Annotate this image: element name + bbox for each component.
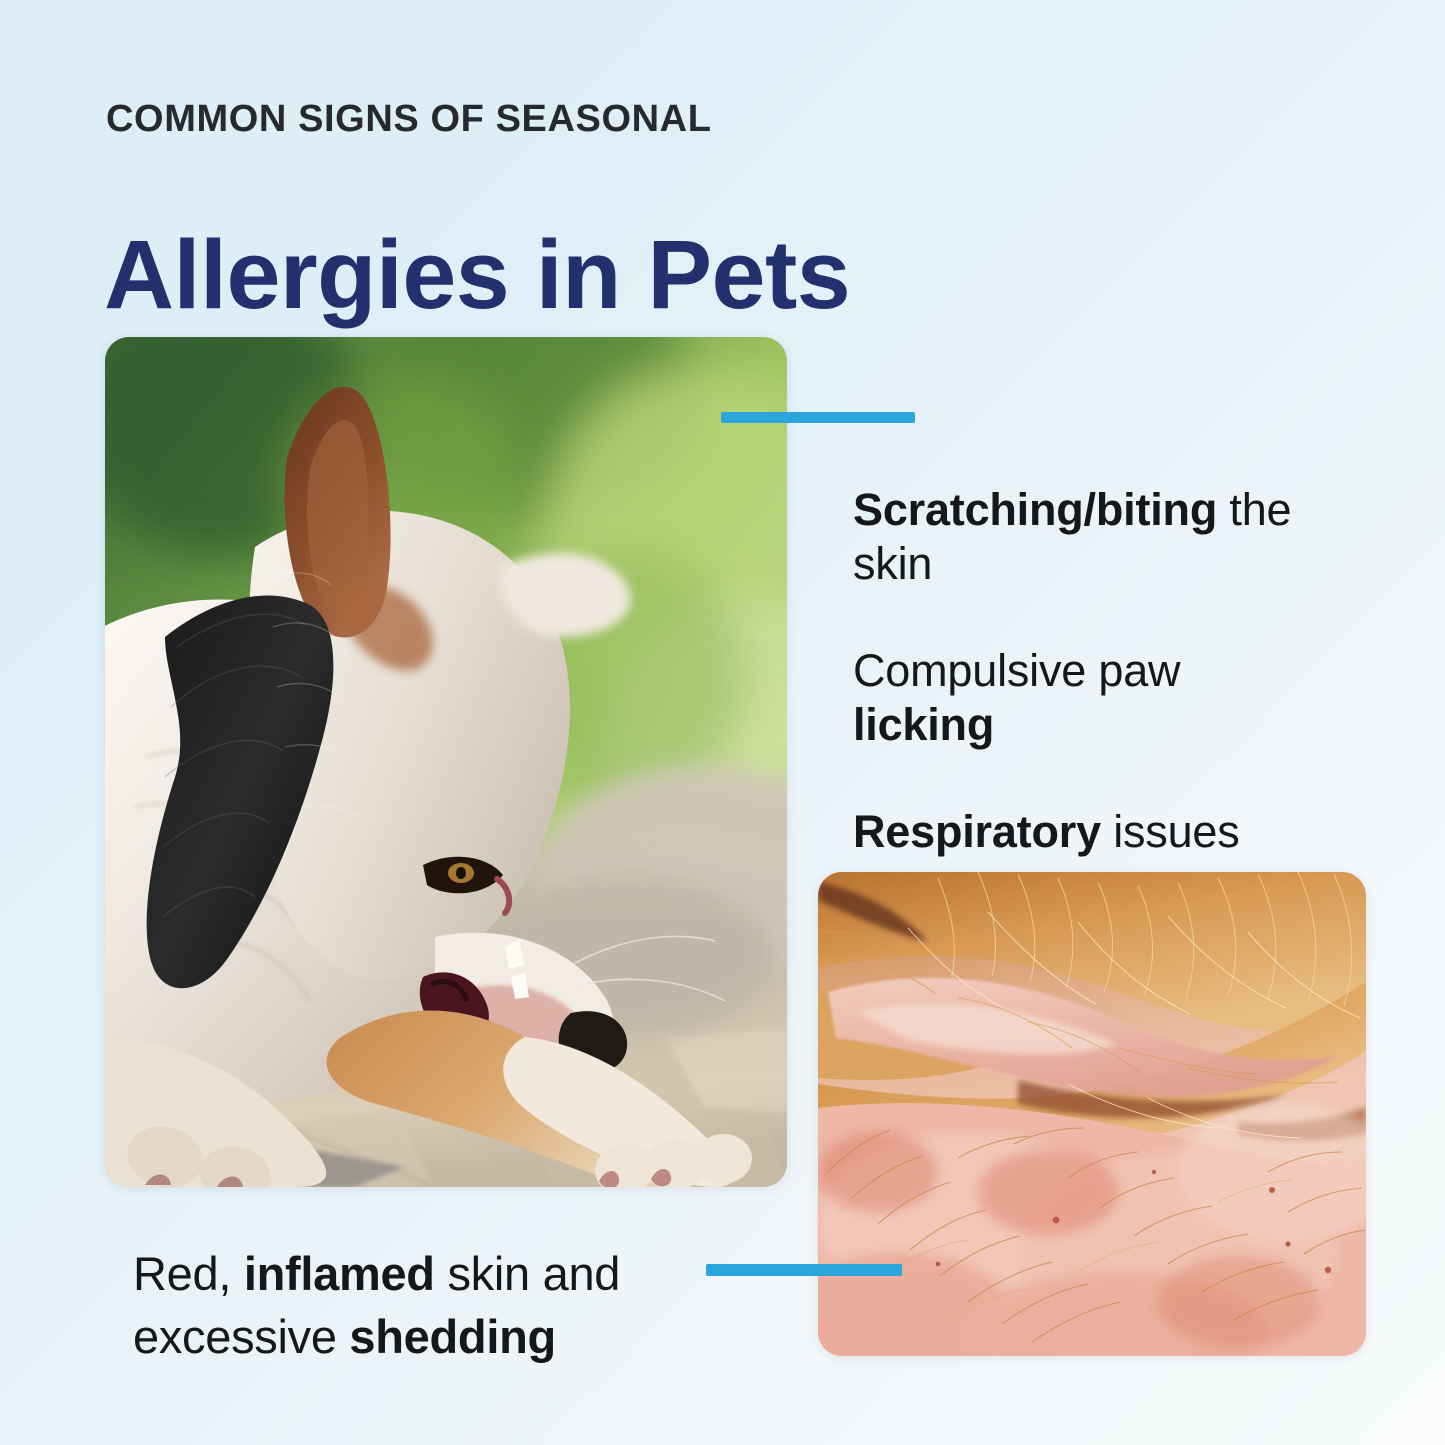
caption-line2-a: excessive (133, 1310, 349, 1363)
symptom-3-rest: issues (1101, 806, 1240, 857)
symptom-3-bold: Respiratory (853, 806, 1101, 857)
connector-line-top (721, 412, 915, 423)
caption-line1-a: Red, (133, 1247, 244, 1300)
symptom-item-scratching-biting: Scratching/biting the skin (853, 483, 1333, 592)
dog-photo-illustration (105, 337, 787, 1187)
symptom-item-respiratory: Respiratory issues (853, 805, 1333, 859)
connector-line-bottom (706, 1264, 902, 1276)
caption-line1-b: inflamed (244, 1247, 435, 1300)
inflamed-skin-closeup-photo (818, 872, 1366, 1356)
symptom-list: Scratching/biting the skin Compulsive pa… (853, 483, 1333, 859)
caption-inflamed-skin: Red, inflamed skin and excessive sheddin… (133, 1243, 733, 1369)
symptom-2-bold: licking (853, 699, 994, 750)
symptom-1-bold: Scratching/biting (853, 484, 1217, 535)
symptom-item-paw-licking: Compulsive paw licking (853, 644, 1333, 753)
infographic-canvas: COMMON SIGNS OF SEASONAL Allergies in Pe… (0, 0, 1445, 1445)
caption-line1-c: skin and (435, 1247, 620, 1300)
eyebrow-text: COMMON SIGNS OF SEASONAL (106, 98, 712, 141)
skin-photo-illustration (818, 872, 1366, 1356)
page-title: Allergies in Pets (104, 223, 850, 328)
symptom-2-light: Compulsive paw (853, 645, 1180, 696)
dog-biting-paw-photo (105, 337, 787, 1187)
caption-line2-b: shedding (349, 1310, 555, 1363)
